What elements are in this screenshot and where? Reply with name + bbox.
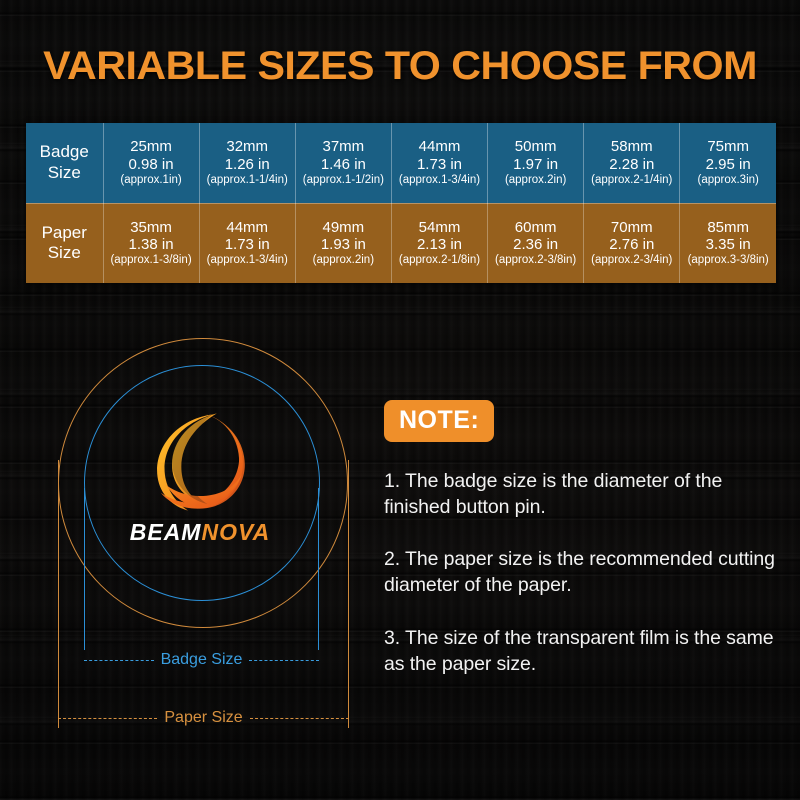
paper-cell-4: 54mm 2.13 in (approx.2-1/8in)	[391, 203, 487, 283]
badge-in-3: 1.46 in	[298, 156, 389, 173]
row-label-line2: Size	[28, 243, 101, 264]
paper-cell-5: 60mm 2.36 in (approx.2-3/8in)	[488, 203, 584, 283]
dimension-dash-right	[249, 660, 319, 661]
paper-approx-3: (approx.2in)	[298, 254, 389, 267]
beamnova-swirl-icon	[144, 405, 256, 517]
paper-in-4: 2.13 in	[394, 236, 485, 253]
table-row-paper-size: Paper Size 35mm 1.38 in (approx.1-3/8in)…	[26, 203, 776, 283]
paper-in-5: 2.36 in	[490, 236, 581, 253]
brand-wordmark: BEAMNOVA	[100, 519, 300, 546]
sizing-table: Badge Size 25mm 0.98 in (approx.1in) 32m…	[26, 123, 776, 283]
paper-cell-2: 44mm 1.73 in (approx.1-3/4in)	[199, 203, 295, 283]
note-item-1: 1. The badge size is the diameter of the…	[384, 468, 776, 520]
paper-mm-1: 35mm	[106, 219, 197, 236]
paper-approx-7: (approx.3-3/8in)	[682, 254, 774, 267]
badge-mm-7: 75mm	[682, 138, 774, 155]
paper-mm-5: 60mm	[490, 219, 581, 236]
paper-extension-line-right	[348, 460, 349, 728]
badge-in-1: 0.98 in	[106, 156, 197, 173]
badge-approx-5: (approx.2in)	[490, 174, 581, 187]
paper-size-dimension: Paper Size	[58, 711, 349, 725]
badge-in-5: 1.97 in	[490, 156, 581, 173]
note-item-2: 2. The paper size is the recommended cut…	[384, 546, 776, 598]
page-title: VARIABLE SIZES TO CHOOSE FROM	[0, 44, 800, 89]
note-section: NOTE: 1. The badge size is the diameter …	[384, 400, 776, 677]
badge-mm-4: 44mm	[394, 138, 485, 155]
dimension-dash-left	[84, 660, 154, 661]
paper-mm-2: 44mm	[202, 219, 293, 236]
wordmark-beam: BEAM	[130, 519, 202, 545]
paper-mm-3: 49mm	[298, 219, 389, 236]
badge-approx-6: (approx.2-1/4in)	[586, 174, 677, 187]
badge-in-6: 2.28 in	[586, 156, 677, 173]
paper-mm-4: 54mm	[394, 219, 485, 236]
paper-approx-4: (approx.2-1/8in)	[394, 254, 485, 267]
badge-mm-1: 25mm	[106, 138, 197, 155]
badge-approx-3: (approx.1-1/2in)	[298, 174, 389, 187]
wordmark-nova: NOVA	[201, 519, 270, 545]
badge-mm-5: 50mm	[490, 138, 581, 155]
paper-mm-6: 70mm	[586, 219, 677, 236]
badge-cell-5: 50mm 1.97 in (approx.2in)	[488, 123, 584, 203]
paper-approx-2: (approx.1-3/4in)	[202, 254, 293, 267]
badge-approx-1: (approx.1in)	[106, 174, 197, 187]
paper-in-7: 3.35 in	[682, 236, 774, 253]
row-label-line1: Paper	[28, 223, 101, 244]
badge-mm-2: 32mm	[202, 138, 293, 155]
paper-cell-6: 70mm 2.76 in (approx.2-3/4in)	[584, 203, 680, 283]
paper-in-1: 1.38 in	[106, 236, 197, 253]
paper-in-2: 1.73 in	[202, 236, 293, 253]
badge-approx-2: (approx.1-1/4in)	[202, 174, 293, 187]
badge-cell-4: 44mm 1.73 in (approx.1-3/4in)	[391, 123, 487, 203]
paper-cell-3: 49mm 1.93 in (approx.2in)	[295, 203, 391, 283]
badge-size-diagram: BEAMNOVA Badge Size Paper Size	[0, 320, 380, 760]
paper-size-dimension-label: Paper Size	[157, 709, 249, 727]
badge-in-4: 1.73 in	[394, 156, 485, 173]
row-label-line1: Badge	[28, 142, 101, 163]
brand-logo: BEAMNOVA	[100, 405, 300, 555]
badge-approx-4: (approx.1-3/4in)	[394, 174, 485, 187]
infographic-page: VARIABLE SIZES TO CHOOSE FROM Badge Size…	[0, 0, 800, 800]
row-label-line2: Size	[28, 163, 101, 184]
badge-in-2: 1.26 in	[202, 156, 293, 173]
paper-cell-1: 35mm 1.38 in (approx.1-3/8in)	[103, 203, 199, 283]
badge-cell-7: 75mm 2.95 in (approx.3in)	[680, 123, 776, 203]
row-label-badge-size: Badge Size	[26, 123, 103, 203]
badge-extension-line-left	[84, 488, 85, 650]
badge-mm-3: 37mm	[298, 138, 389, 155]
dimension-dash-right	[250, 718, 349, 719]
badge-extension-line-right	[318, 488, 319, 650]
badge-cell-1: 25mm 0.98 in (approx.1in)	[103, 123, 199, 203]
note-badge: NOTE:	[384, 400, 494, 442]
row-label-paper-size: Paper Size	[26, 203, 103, 283]
paper-approx-1: (approx.1-3/8in)	[106, 254, 197, 267]
badge-size-dimension-label: Badge Size	[154, 651, 250, 669]
badge-in-7: 2.95 in	[682, 156, 774, 173]
badge-cell-6: 58mm 2.28 in (approx.2-1/4in)	[584, 123, 680, 203]
paper-approx-5: (approx.2-3/8in)	[490, 254, 581, 267]
paper-in-3: 1.93 in	[298, 236, 389, 253]
badge-approx-7: (approx.3in)	[682, 174, 774, 187]
note-item-3: 3. The size of the transparent film is t…	[384, 625, 776, 677]
paper-mm-7: 85mm	[682, 219, 774, 236]
paper-extension-line-left	[58, 460, 59, 728]
badge-size-dimension: Badge Size	[84, 653, 319, 667]
table-row-badge-size: Badge Size 25mm 0.98 in (approx.1in) 32m…	[26, 123, 776, 203]
paper-approx-6: (approx.2-3/4in)	[586, 254, 677, 267]
badge-cell-2: 32mm 1.26 in (approx.1-1/4in)	[199, 123, 295, 203]
badge-mm-6: 58mm	[586, 138, 677, 155]
dimension-dash-left	[58, 718, 157, 719]
badge-cell-3: 37mm 1.46 in (approx.1-1/2in)	[295, 123, 391, 203]
paper-cell-7: 85mm 3.35 in (approx.3-3/8in)	[680, 203, 776, 283]
paper-in-6: 2.76 in	[586, 236, 677, 253]
